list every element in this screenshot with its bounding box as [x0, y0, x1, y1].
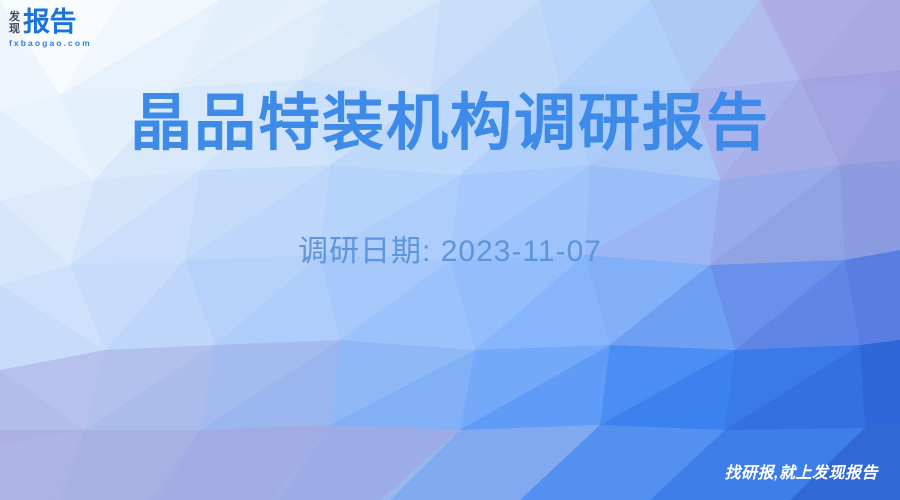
logo-char-fa: 发	[9, 11, 20, 23]
site-logo[interactable]: 发 现 报告 fxbaogao.com	[9, 8, 92, 48]
page-title: 晶品特装机构调研报告	[0, 86, 900, 162]
survey-date-subtitle: 调研日期: 2023-11-07	[0, 232, 900, 272]
logo-char-xian: 现	[9, 23, 20, 35]
logo-main-text: 报告	[23, 8, 76, 36]
footer-tagline: 找研报,就上发现报告	[725, 464, 878, 484]
report-cover-slide: 发 现 报告 fxbaogao.com 晶品特装机构调研报告 调研日期: 202…	[0, 0, 900, 500]
logo-url-text: fxbaogao.com	[9, 38, 92, 48]
logo-stacked-chars: 发 现	[9, 11, 20, 36]
logo-wordmark-row: 发 现 报告	[9, 8, 92, 36]
